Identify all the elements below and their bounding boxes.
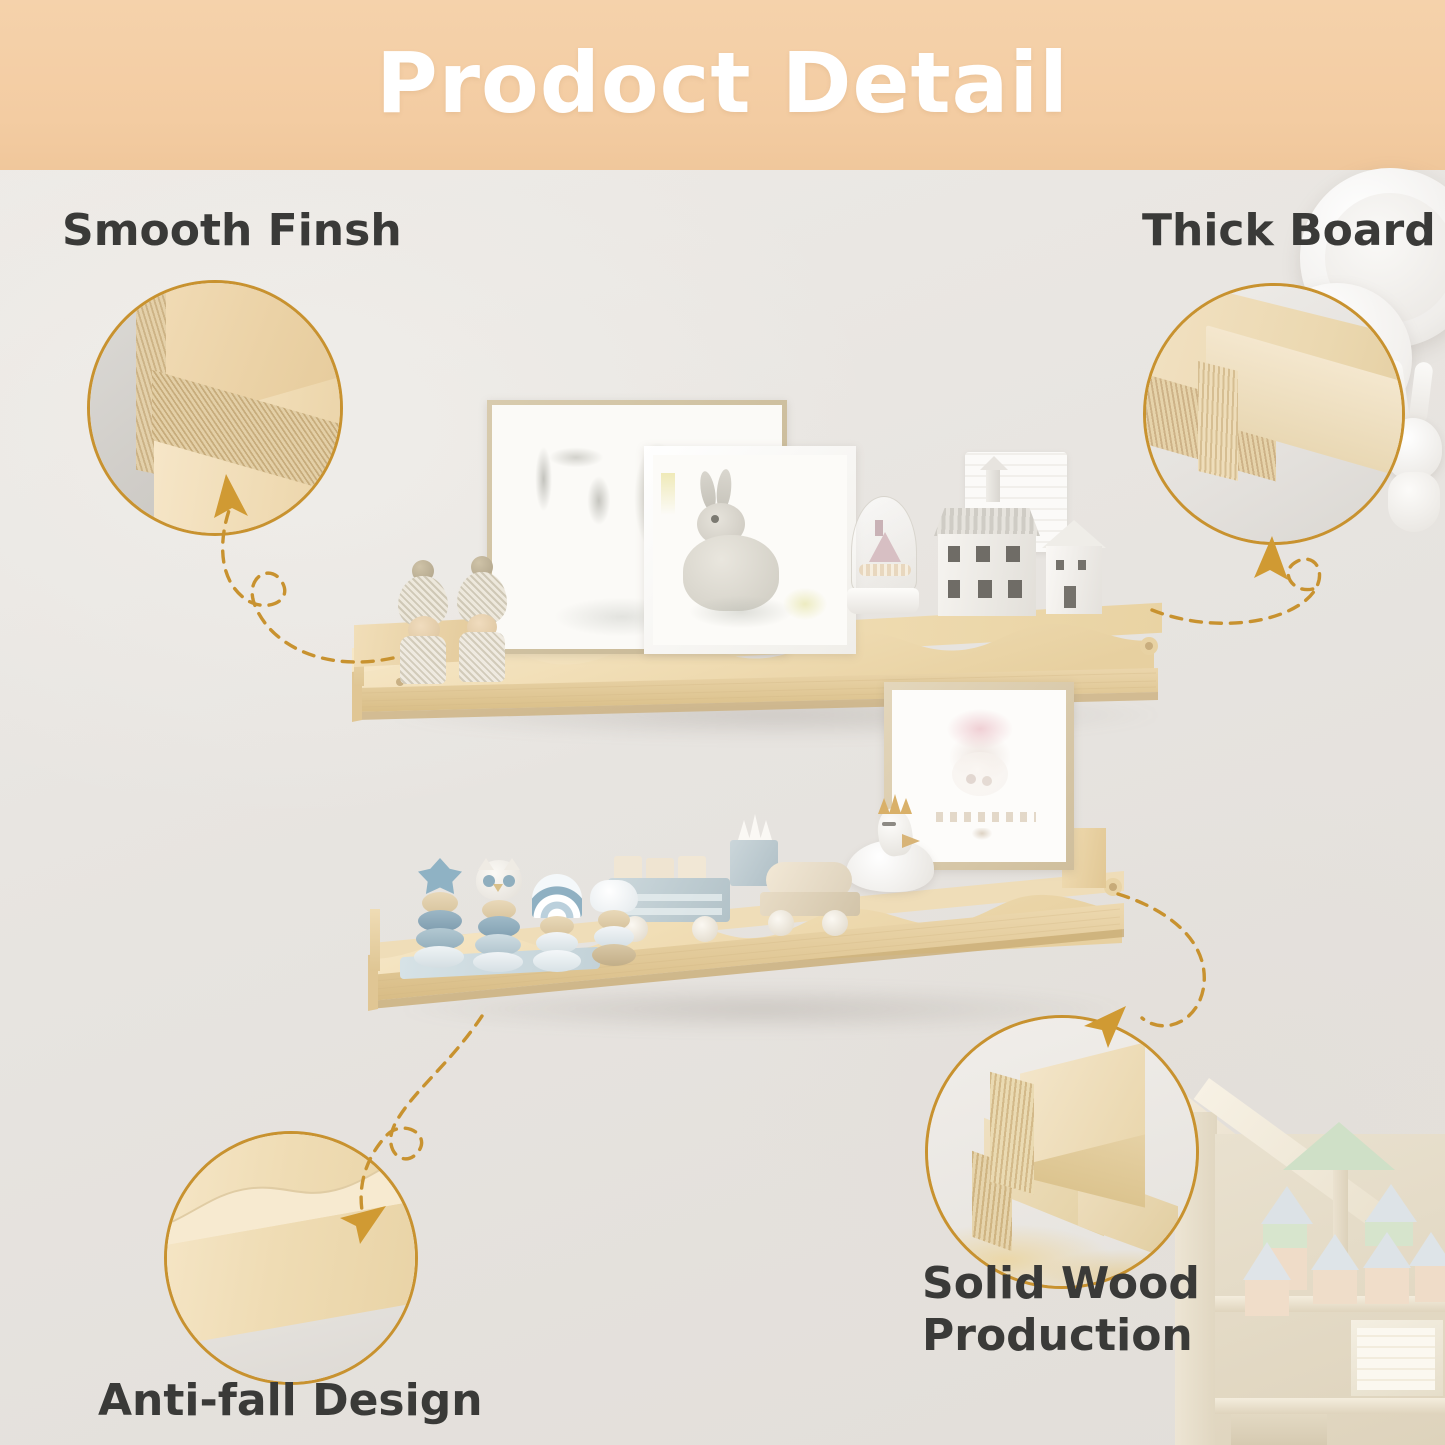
knitted-doll-large xyxy=(392,560,454,684)
label-thick-board: Thick Board xyxy=(1142,205,1436,257)
rainbow-stacking-toy xyxy=(530,878,584,972)
label-anti-fall-design: Anti-fall Design xyxy=(98,1375,483,1427)
callout-smooth-finish[interactable] xyxy=(90,283,340,533)
callout-solid-wood[interactable] xyxy=(928,1018,1196,1286)
label-solid-wood-production: Solid Wood Production xyxy=(922,1258,1200,1362)
knitted-doll-small xyxy=(449,556,511,682)
callout-anti-fall-design[interactable] xyxy=(167,1134,415,1382)
ceramic-house-large xyxy=(932,498,1042,616)
cloud-peg-toy xyxy=(590,882,640,968)
header-banner: Prodoct Detail xyxy=(0,0,1445,170)
page-title: Prodoct Detail xyxy=(376,34,1069,132)
owl-stacking-toy xyxy=(470,862,526,972)
label-smooth-finish: Smooth Finsh xyxy=(62,205,402,257)
glass-cloche-house xyxy=(845,496,921,618)
house-shaped-dollhouse-shelf xyxy=(1175,1082,1445,1445)
product-detail-image: Prodoct Detail xyxy=(0,0,1445,1445)
cloud-stacking-toy xyxy=(412,862,466,970)
train-barrel-car xyxy=(760,862,870,938)
ceramic-house-small xyxy=(1042,520,1106,614)
framed-rabbit-art xyxy=(644,446,856,654)
callout-thick-board[interactable] xyxy=(1146,286,1402,542)
